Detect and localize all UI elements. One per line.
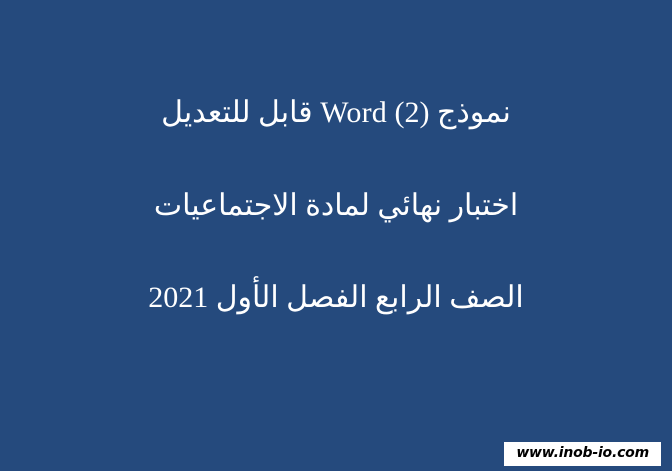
title-line-document-type: نموذج (2) Word قابل للتعديل (161, 96, 511, 131)
watermark-url-text: www.inob-io.com (516, 446, 649, 461)
watermark-badge: www.inob-io.com (504, 442, 661, 466)
cover-banner: نموذج (2) Word قابل للتعديل اختبار نهائي… (0, 0, 672, 471)
title-block: نموذج (2) Word قابل للتعديل اختبار نهائي… (0, 96, 672, 316)
title-line-grade-term-year: الصف الرابع الفصل الأول 2021 (148, 281, 524, 316)
title-line-exam-subject: اختبار نهائي لمادة الاجتماعيات (154, 189, 518, 224)
